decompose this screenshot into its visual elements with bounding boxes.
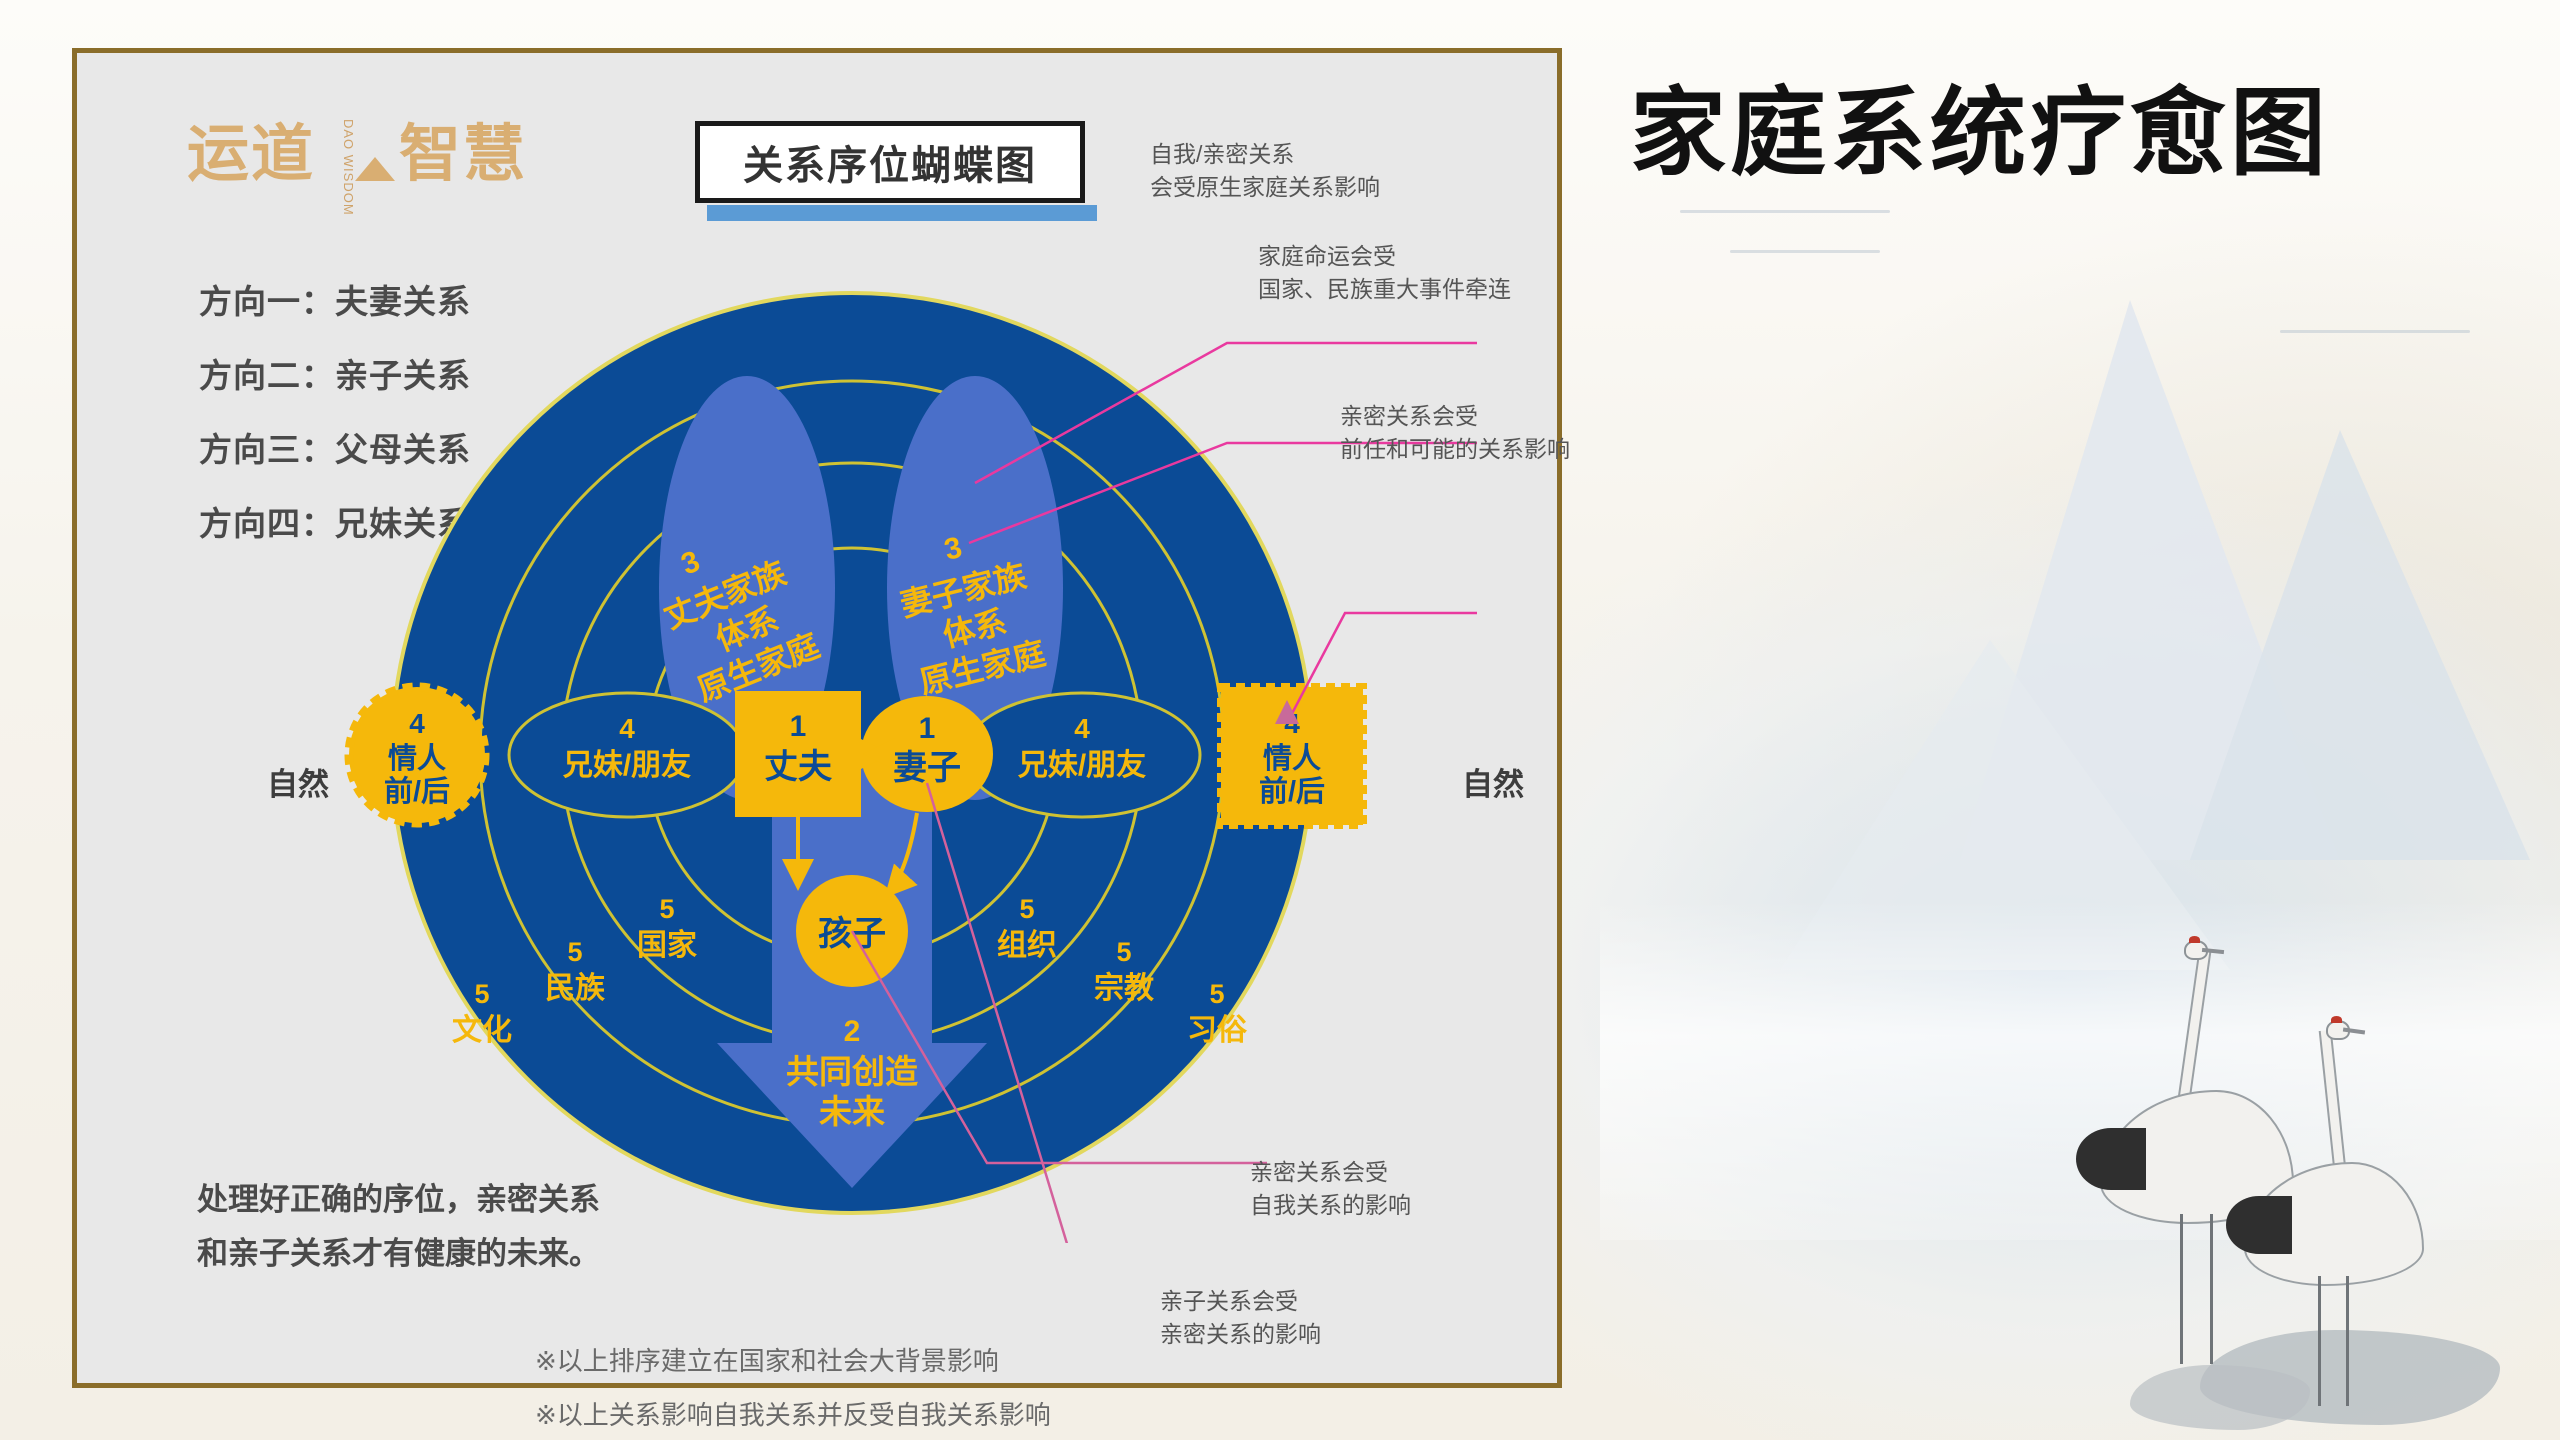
- annotation-1-line-2: 会受原生家庭关系影响: [1150, 171, 1380, 204]
- outer-right-0-label: 组织: [997, 928, 1057, 962]
- butterfly-order-diagram: 3 丈夫家族 体系 原生家庭 3 妻子家族 体系 原生家庭 4 兄妹/朋友 4 …: [227, 283, 1477, 1243]
- lover-right-line1: 情人: [1263, 742, 1321, 775]
- lover-left-line2: 前/后: [384, 774, 450, 808]
- logo-pinyin: DAO WISDOM: [341, 119, 355, 216]
- annotation-1-line-1: 自我/亲密关系: [1150, 138, 1380, 171]
- husband-rank: 1: [790, 710, 807, 743]
- wife-rank: 1: [919, 712, 936, 745]
- annotation-2-line-1: 家庭命运会受: [1258, 240, 1511, 273]
- diagram-title: 关系序位蝴蝶图: [695, 121, 1085, 203]
- lover-left-line1: 情人: [388, 742, 446, 775]
- outer-right-2-rank: 5: [1209, 979, 1224, 1009]
- sibling-left-rank: 4: [619, 713, 635, 744]
- annotation-2-line-2: 国家、民族重大事件牵连: [1258, 273, 1511, 306]
- summary-note: 处理好正确的序位，亲密关系和亲子关系才有健康的未来。: [197, 1173, 627, 1282]
- lover-right-line2: 前/后: [1259, 774, 1325, 808]
- annotation-family-fate: 家庭命运会受 国家、民族重大事件牵连: [1258, 240, 1511, 307]
- cloud-line: [1680, 210, 1890, 213]
- sibling-right-label: 兄妹/朋友: [1018, 749, 1146, 782]
- annotation-4-line-1: 亲密关系会受: [1250, 1156, 1411, 1189]
- footnote-2: ※以上关系影响自我关系并反受自我关系影响: [535, 1395, 1051, 1432]
- page-title: 家庭系统疗愈图: [1630, 55, 2370, 194]
- outer-left-2-rank: 5: [474, 979, 489, 1009]
- annotation-5-line-2: 亲密关系的影响: [1160, 1318, 1321, 1351]
- rock-shape: [2130, 1365, 2310, 1430]
- logo-text-left: 运道: [187, 103, 315, 193]
- outer-right-0-rank: 5: [1019, 894, 1034, 924]
- outer-left-0-label: 国家: [637, 929, 697, 962]
- annotation-intimacy-ex: 亲密关系会受 前任和可能的关系影响: [1340, 400, 1570, 467]
- lover-left-rank: 4: [409, 708, 425, 739]
- future-line1: 共同创造: [786, 1053, 918, 1090]
- footnote-1: ※以上排序建立在国家和社会大背景影响: [535, 1341, 999, 1378]
- child-label: 孩子: [818, 915, 886, 953]
- annotation-3-line-1: 亲密关系会受: [1340, 400, 1570, 433]
- cloud-line: [1730, 250, 1880, 253]
- outer-left-2-label: 文化: [452, 1013, 512, 1047]
- outer-right-1-rank: 5: [1116, 937, 1131, 967]
- outer-left-0-rank: 5: [659, 894, 674, 924]
- mountain-icon: [355, 157, 395, 181]
- title-accent-bar: [707, 205, 1097, 221]
- cloud-line: [2280, 330, 2470, 333]
- sibling-left-label: 兄妹/朋友: [563, 749, 691, 782]
- logo-text-right: 智慧: [399, 103, 527, 193]
- annotation-5-line-1: 亲子关系会受: [1160, 1285, 1321, 1318]
- future-rank: 2: [844, 1015, 861, 1048]
- sibling-right-rank: 4: [1074, 713, 1090, 744]
- annotation-intimacy-self: 亲密关系会受 自我关系的影响: [1250, 1156, 1411, 1223]
- wife-label: 妻子: [893, 749, 961, 787]
- outer-right-2-label: 习俗: [1187, 1014, 1248, 1047]
- husband-label: 丈夫: [764, 748, 833, 786]
- mist-overlay: [1600, 900, 2560, 1240]
- annotation-self-intimacy: 自我/亲密关系 会受原生家庭关系影响: [1150, 138, 1380, 205]
- mountain-shape: [2190, 430, 2530, 860]
- outer-left-1-rank: 5: [567, 937, 582, 967]
- annotation-parentchild-intimacy: 亲子关系会受 亲密关系的影响: [1160, 1285, 1321, 1352]
- brand-logo: 运道 DAO WISDOM 智慧: [187, 103, 547, 183]
- outer-left-1-label: 民族: [545, 972, 606, 1005]
- future-line2: 未来: [819, 1093, 885, 1130]
- annotation-4-line-2: 自我关系的影响: [1250, 1189, 1411, 1222]
- annotation-3-line-2: 前任和可能的关系影响: [1340, 433, 1570, 466]
- outer-right-1-label: 宗教: [1094, 971, 1154, 1005]
